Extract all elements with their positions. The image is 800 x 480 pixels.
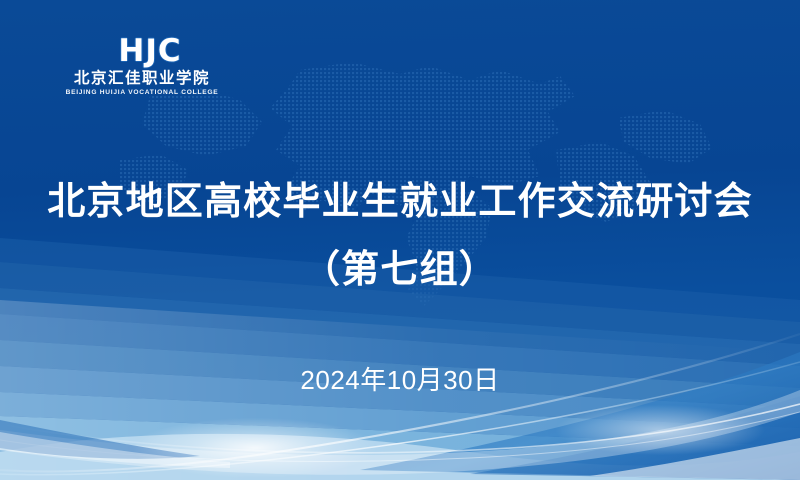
slide-title-line1: 北京地区高校毕业生就业工作交流研讨会: [0, 182, 800, 224]
logo-name-en: BEIJING HUIJIA VOCATIONAL COLLEGE: [52, 90, 232, 97]
slide-title-line2: （第七组）: [0, 250, 800, 292]
presentation-title-slide: HJC 北京汇佳职业学院 BEIJING HUIJIA VOCATIONAL C…: [0, 0, 800, 480]
slide-title: 北京地区高校毕业生就业工作交流研讨会 （第七组）: [0, 182, 800, 292]
logo-monogram: HJC: [68, 36, 232, 67]
slide-date: 2024年10月30日: [0, 360, 800, 397]
college-logo: HJC 北京汇佳职业学院 BEIJING HUIJIA VOCATIONAL C…: [52, 36, 232, 96]
logo-name-cn: 北京汇佳职业学院: [52, 71, 232, 87]
